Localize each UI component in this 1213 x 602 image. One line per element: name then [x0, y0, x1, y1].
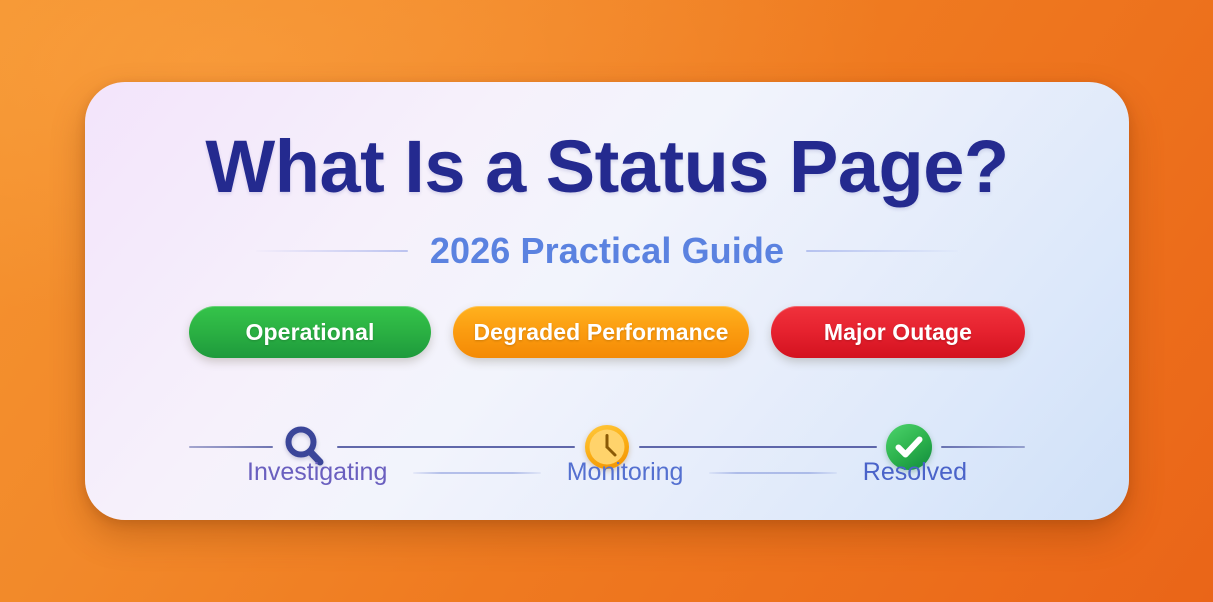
status-badge-degraded[interactable]: Degraded Performance [453, 306, 749, 358]
incident-timeline: Investigating Monitoring Resolved [189, 384, 1025, 494]
status-badge-operational[interactable]: Operational [189, 306, 431, 358]
status-pill-row: Operational Degraded Performance Major O… [85, 306, 1129, 358]
poster-canvas: What Is a Status Page? 2026 Practical Gu… [0, 0, 1213, 602]
subtitle-rule-left [256, 250, 408, 252]
timeline-label-rule-1 [413, 472, 540, 474]
timeline-label-row: Investigating Monitoring Resolved [189, 458, 1025, 487]
page-subtitle: 2026 Practical Guide [430, 230, 784, 272]
timeline-label-resolved: Resolved [863, 458, 967, 487]
timeline-label-rule-2 [709, 472, 836, 474]
timeline-label-monitoring: Monitoring [567, 458, 684, 487]
timeline-label-investigating: Investigating [247, 458, 387, 487]
page-title: What Is a Status Page? [85, 130, 1129, 204]
status-page-card: What Is a Status Page? 2026 Practical Gu… [85, 82, 1129, 520]
timeline-connector-end [941, 446, 1025, 448]
timeline-connector-2 [639, 446, 877, 448]
subtitle-rule-right [806, 250, 958, 252]
status-badge-major-outage[interactable]: Major Outage [771, 306, 1025, 358]
timeline-connector-start [189, 446, 273, 448]
timeline-connector-1 [337, 446, 575, 448]
subtitle-row: 2026 Practical Guide [85, 230, 1129, 272]
